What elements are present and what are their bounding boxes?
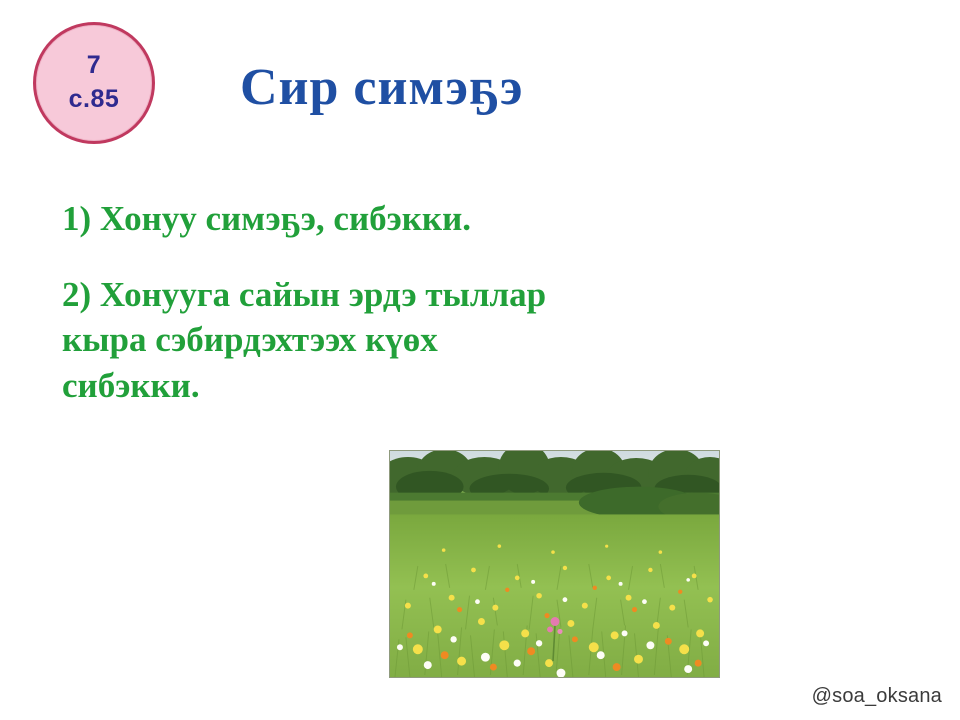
- meadow-photo: [389, 450, 720, 678]
- content-paragraph-1: 1) Хонуу симэҕэ, сибэкки.: [62, 196, 882, 242]
- meadow-photo-graphic: [390, 451, 719, 677]
- slide-canvas: 7 с.85 Сир симэҕэ 1) Хонуу симэҕэ, сибэк…: [0, 0, 960, 720]
- badge-number: 7: [87, 49, 101, 83]
- page-title: Сир симэҕэ: [240, 58, 523, 117]
- watermark-credit: @soa_oksana: [812, 685, 942, 708]
- page-badge: 7 с.85: [33, 22, 155, 144]
- badge-page: с.85: [69, 83, 120, 117]
- content-paragraph-2: 2) Хонууга сайын эрдэ тыллар кыра сэбирд…: [62, 272, 882, 409]
- content-block: 1) Хонуу симэҕэ, сибэкки. 2) Хонууга сай…: [62, 196, 882, 408]
